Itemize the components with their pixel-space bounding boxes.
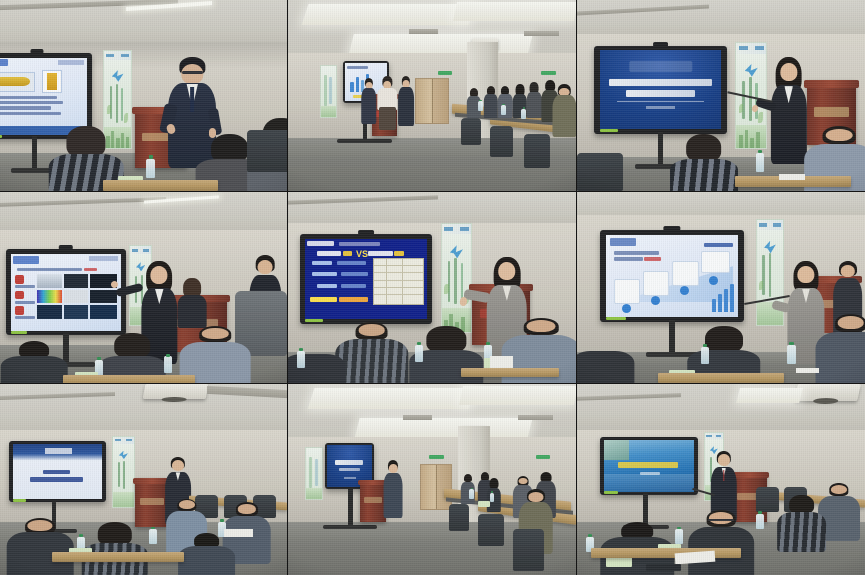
slide-heading-bar [0, 59, 8, 66]
water-bottle [675, 529, 683, 544]
necktie [190, 87, 194, 111]
chart-bar [730, 284, 735, 312]
smartphone [796, 368, 819, 374]
photo-collage-grid: VS [0, 0, 865, 575]
slide-lead-line [614, 251, 659, 255]
photo-cell-7[interactable] [0, 384, 288, 575]
slide-roadmap [606, 235, 739, 318]
chair [478, 514, 504, 546]
presenter-8 [383, 460, 403, 517]
presenter-center [377, 76, 397, 129]
display-stand-pole [658, 132, 664, 166]
audience-member [11, 518, 68, 575]
display-camera-icon [663, 226, 680, 231]
audience-member [181, 533, 233, 575]
display-brand-strip [13, 499, 27, 502]
slide-title-line-2 [626, 90, 694, 97]
wall-display-3[interactable] [594, 46, 726, 134]
ceiling-projector [794, 384, 861, 401]
row-badge-2 [15, 291, 24, 300]
water-bottle [297, 351, 306, 368]
display-screen [13, 444, 103, 499]
slide-presenter-name [646, 106, 675, 109]
seated-staff [178, 278, 207, 328]
chair [513, 529, 545, 571]
slide-section-title [704, 243, 733, 247]
room-door [420, 464, 452, 510]
display-brand-strip [606, 317, 626, 320]
slide-subtitle-text [640, 472, 660, 475]
slide-bullet-detail [337, 261, 366, 265]
photo-cell-6[interactable] [577, 192, 865, 384]
presenter-3 [767, 57, 810, 164]
exit-sign [541, 71, 555, 76]
audience-member [86, 522, 143, 575]
wall-display-4[interactable] [6, 249, 127, 335]
display-stand-pole [348, 489, 352, 527]
banner-bird-icon [450, 245, 463, 258]
wall-display-6[interactable] [600, 230, 744, 322]
banner-logo-left [106, 54, 114, 58]
display-stand-leg [337, 139, 392, 143]
milestone-card-4 [701, 251, 730, 272]
milestone-node-1 [622, 304, 631, 313]
ceiling-light-panel [453, 2, 577, 21]
photo-cell-8[interactable] [288, 384, 577, 575]
milestone-card-1 [614, 279, 641, 304]
scene-4 [0, 192, 287, 383]
tissue-box [478, 501, 490, 508]
milestone-node-2 [651, 296, 660, 305]
slide-left-highlight [343, 251, 353, 257]
slide-divider [617, 101, 705, 102]
head [182, 64, 203, 84]
water-bottle [787, 345, 796, 364]
wall-display-7[interactable] [9, 441, 107, 502]
chart-bar [724, 289, 729, 312]
presenter-left [360, 78, 377, 124]
ceiling-light-panel [459, 386, 577, 405]
display-screen [11, 254, 122, 331]
slide-right-label [368, 251, 392, 257]
slide-body-line [0, 96, 57, 99]
ceiling-light-panel [736, 388, 803, 403]
audience-member [577, 341, 629, 384]
display-stand-pole [669, 320, 675, 354]
photo-cell-2[interactable] [288, 0, 577, 192]
result-thumb [90, 290, 117, 303]
banner-bird-icon [119, 451, 128, 459]
slide-research-progress [11, 254, 122, 331]
slide-comparison: VS [305, 239, 427, 320]
result-thumb [64, 305, 88, 318]
slide-photo-corner [604, 440, 629, 460]
photo-cell-9[interactable] [577, 384, 865, 575]
slide-conclusion-right [339, 297, 368, 303]
water-bottle [415, 345, 424, 362]
scene-1 [0, 0, 287, 191]
slide-bullet-detail [341, 272, 368, 276]
banner-bird-icon [745, 64, 758, 77]
glasses-icon [182, 71, 203, 74]
water-bottle [478, 101, 483, 111]
slide-heading-sub [339, 242, 380, 246]
audience-table [591, 548, 741, 558]
water-bottle [521, 109, 526, 120]
banner-bird-icon [764, 241, 776, 254]
banner-bird-icon [112, 70, 124, 82]
display-brand-strip [0, 135, 2, 138]
slide-title-text [618, 462, 677, 468]
slide-title-line-2 [30, 477, 82, 481]
ceiling-projector [142, 384, 208, 399]
audience-table [461, 368, 559, 378]
slide-left-label [317, 251, 341, 257]
slide-lead-highlight [644, 257, 661, 261]
banner-leaf-icon [124, 113, 129, 123]
water-bottle [501, 105, 506, 115]
display-brand-strip [305, 319, 324, 322]
banner-logo-right [121, 54, 129, 58]
wall-display-5[interactable]: VS [300, 234, 432, 324]
display-stand-leg [323, 525, 378, 529]
result-thumb [37, 305, 61, 318]
audience-table [103, 180, 218, 191]
chart-bar [712, 299, 717, 312]
audience-member [6, 341, 63, 384]
audience-table [52, 552, 184, 562]
water-bottle [469, 489, 474, 499]
slide-title-hydrogen [13, 444, 103, 499]
scene-2 [288, 0, 576, 191]
display-camera-icon [358, 230, 374, 235]
necktie [723, 470, 724, 482]
banner-vertical-text [116, 84, 118, 123]
wall-display-9[interactable] [600, 437, 698, 494]
panel-member-foreground [553, 84, 576, 137]
slide-title-co2 [600, 50, 722, 129]
slide-heading-bar [307, 241, 334, 246]
audience-member [675, 134, 733, 192]
slide-bullet-detail [341, 284, 365, 288]
ceiling-vent [518, 415, 553, 421]
display-screen [606, 235, 739, 318]
slide-lead-line [614, 257, 643, 261]
slide-bullet [17, 268, 81, 272]
chair [461, 118, 481, 145]
display-screen [0, 58, 87, 135]
display-screen [600, 50, 722, 129]
scene-3 [577, 0, 865, 191]
slide-body-line [0, 101, 63, 104]
slide-technical [0, 58, 87, 135]
presenter-right [397, 76, 414, 126]
result-thumb [90, 305, 117, 318]
slide-conclusion-left [310, 297, 337, 303]
result-thumb [37, 274, 61, 287]
slide-logo [89, 256, 118, 261]
photo-cell-5[interactable]: VS [288, 192, 577, 384]
display-screen [604, 440, 694, 492]
smartphone [779, 174, 805, 180]
slide-vs-label: VS [356, 250, 368, 259]
audience-member [692, 510, 750, 575]
ceiling-light-panel [308, 388, 476, 409]
slide-heading-bar [13, 256, 40, 264]
chair [756, 487, 779, 512]
slide-bullet-highlight [84, 268, 97, 272]
panel-member [484, 86, 498, 118]
water-bottle [149, 529, 156, 544]
podium-8 [360, 480, 386, 522]
audience-member [819, 314, 865, 384]
slide-bullet [312, 261, 332, 265]
milestone-card-2 [643, 271, 670, 296]
display-stand-pole [32, 136, 38, 170]
wall-poster [305, 447, 322, 500]
document [224, 529, 253, 537]
ceiling-vent [409, 29, 438, 35]
wall-poster [320, 65, 337, 118]
chair [490, 126, 513, 157]
banner-vertical-text [110, 86, 112, 119]
photo-cell-1[interactable] [0, 0, 288, 192]
water-bottle [146, 159, 155, 178]
slide-title-line-1 [609, 79, 711, 86]
ceiling-light-panel [354, 418, 532, 439]
chair [524, 134, 550, 168]
glasses-icon [708, 519, 733, 521]
result-thumb [64, 290, 88, 303]
slide-figure-frame [0, 72, 35, 92]
display-brand-strip [604, 491, 618, 494]
result-thumb [37, 290, 61, 303]
slide-data-table [373, 258, 424, 305]
display-brand-strip [11, 331, 28, 334]
reactor-diagram-icon [0, 77, 30, 86]
event-banner-7 [112, 436, 135, 509]
scene-9 [577, 384, 865, 575]
audience-member [288, 345, 340, 384]
result-thumb [64, 274, 88, 287]
slide-bullet [312, 272, 336, 276]
slide-photo-title [604, 440, 694, 492]
banner-vertical-text [121, 88, 123, 121]
slide-body-line [0, 112, 61, 115]
scene-6 [577, 192, 865, 383]
room-door [415, 78, 450, 124]
audience-member [779, 495, 825, 552]
slide-logo [58, 60, 84, 65]
ceiling-vent [403, 415, 432, 421]
audience-member [340, 322, 403, 384]
slide-body-line [0, 106, 51, 109]
cylinder-schematic-icon [47, 73, 57, 90]
scene-8 [288, 384, 576, 575]
photo-cell-4[interactable] [0, 192, 288, 384]
ceiling-light-panel [302, 4, 476, 25]
exit-sign [438, 71, 452, 76]
ceiling-vent [524, 31, 559, 37]
exit-sign [536, 455, 550, 460]
display-camera-icon [653, 42, 669, 47]
chair [577, 153, 623, 191]
exit-sign [429, 455, 443, 460]
water-bottle [490, 493, 495, 503]
slide-bullet [317, 284, 337, 288]
scene-5: VS [288, 192, 576, 383]
slide-photo-base [604, 474, 694, 492]
chair [449, 504, 469, 531]
water-bottle [164, 356, 173, 373]
chart-bar [718, 294, 723, 312]
smartphone [646, 564, 681, 572]
event-banner-5 [441, 223, 473, 334]
university-logo [629, 61, 692, 71]
water-bottle [756, 514, 764, 529]
audience-table [658, 373, 785, 383]
water-bottle [701, 347, 710, 364]
milestone-card-3 [672, 261, 699, 286]
scene-7 [0, 384, 287, 575]
display-brand-strip [600, 129, 619, 132]
water-bottle [756, 153, 765, 172]
audience-table [63, 375, 195, 384]
row-badge-3 [15, 306, 24, 315]
chair [247, 130, 288, 172]
slide-schematic-frame [42, 70, 62, 93]
slide-logo [610, 238, 637, 246]
slide-right-highlight [394, 251, 404, 257]
photo-cell-3[interactable] [577, 0, 865, 192]
display-camera-icon [59, 245, 73, 250]
slide-title-line-1 [43, 470, 70, 474]
hand-pointing [459, 296, 467, 306]
display-camera-icon [31, 49, 44, 54]
row-badge-1 [15, 275, 24, 284]
display-screen: VS [305, 239, 427, 320]
panel-member [527, 82, 541, 118]
university-logo [45, 448, 72, 455]
